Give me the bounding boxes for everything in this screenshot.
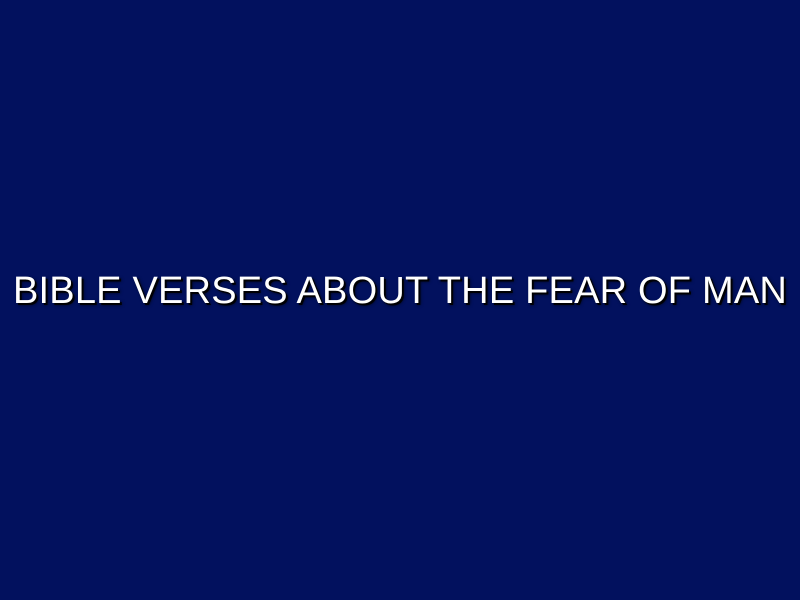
page-title: BIBLE VERSES ABOUT THE FEAR OF MAN	[13, 272, 787, 312]
title-card-content: BIBLE VERSES ABOUT THE FEAR OF MAN	[0, 272, 800, 312]
title-card: BIBLE VERSES ABOUT THE FEAR OF MAN	[0, 0, 800, 600]
